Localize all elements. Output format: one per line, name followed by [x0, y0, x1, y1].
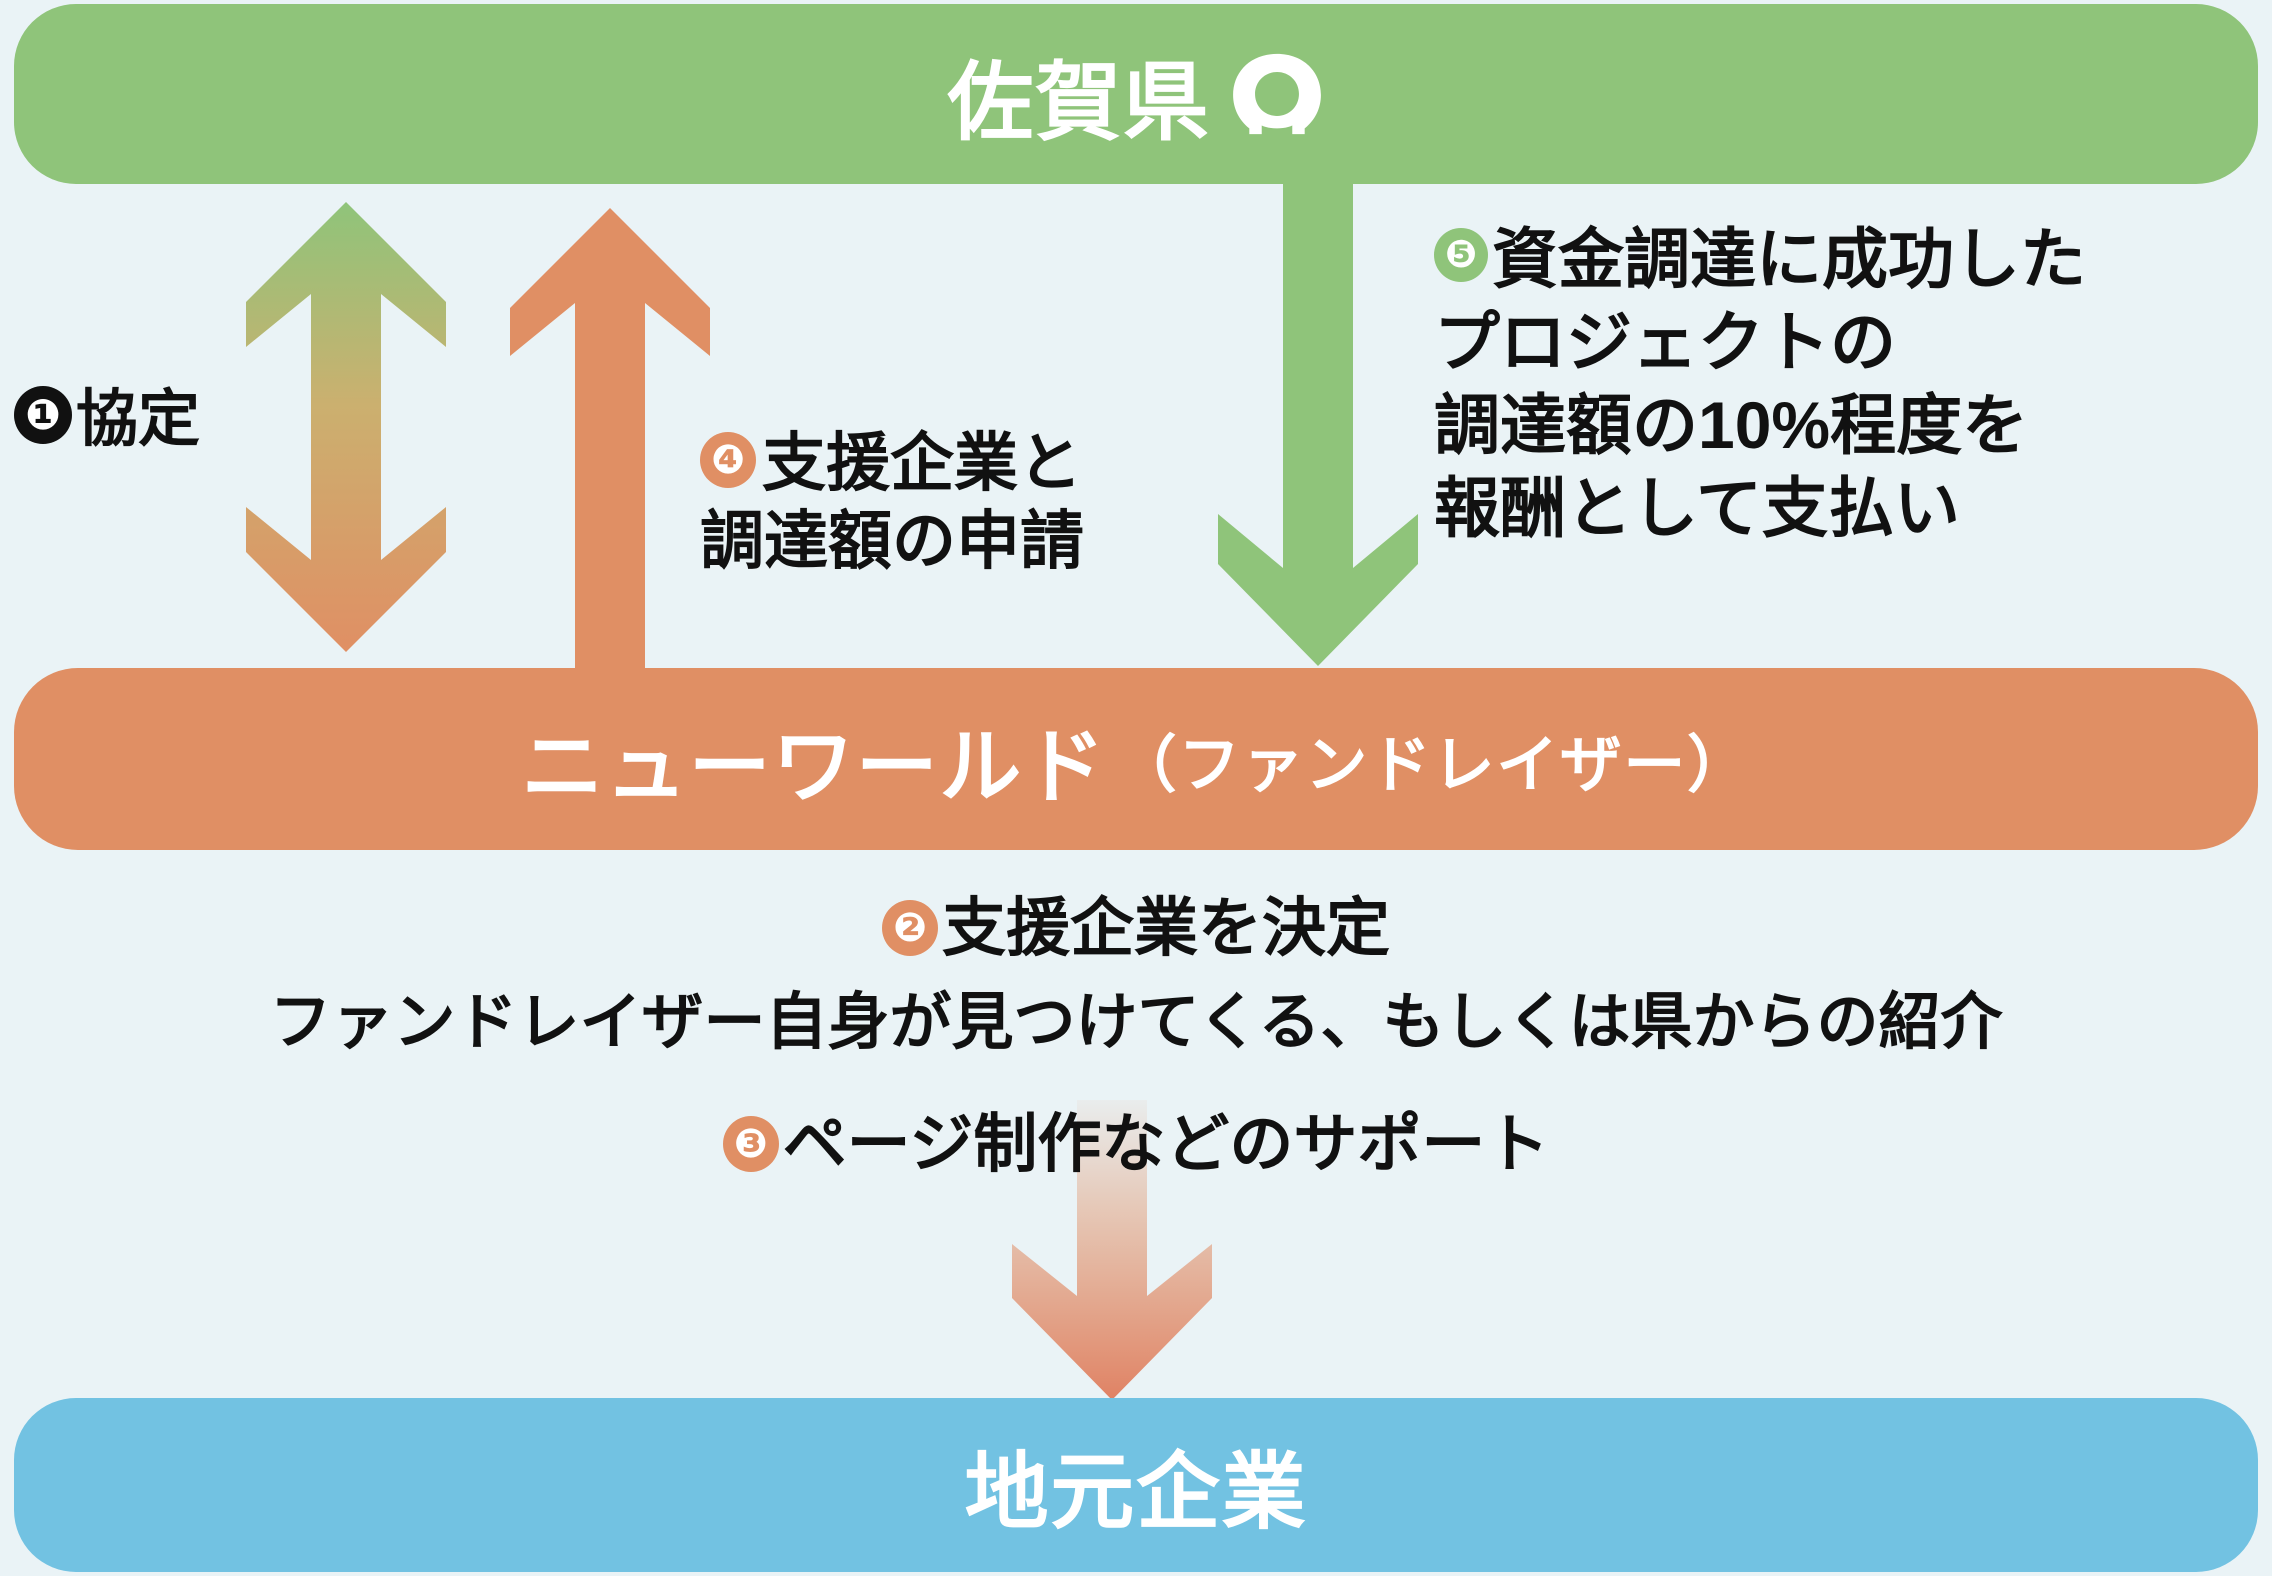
diagram-canvas: 佐賀県 [0, 0, 2272, 1576]
node-saga-prefecture: 佐賀県 [14, 4, 2258, 184]
step-4-text-line-1: 支援企業と [762, 424, 1082, 502]
step-3-number-badge: ❸ [723, 1116, 779, 1172]
reward-down-arrow [1218, 176, 1418, 666]
step-4-application-label: ❹ 支援企業と 調達額の申請 [700, 424, 1084, 580]
step-2-headline: ❷ 支援企業を決定 [882, 889, 1390, 967]
application-up-arrow [510, 208, 710, 668]
step-2-text: 支援企業を決定 [942, 889, 1390, 967]
step-4-text-line-2: 調達額の申請 [700, 502, 1084, 580]
step-5-row-2: プロジェクトの [1434, 301, 2086, 384]
step-2-decide-company-label: ❷ 支援企業を決定 ファンドレイザー自身が見つけてくる、もしくは県からの紹介 [0, 880, 2272, 1061]
node-new-world-label: ニューワールド [521, 700, 1106, 819]
step-2-number-badge: ❷ [882, 900, 938, 956]
step-5-row-1: ❺ 資金調達に成功した [1434, 218, 2086, 301]
step-1-agreement-label: ❶ 協定 [14, 382, 200, 458]
node-new-world-sublabel: （ファンドレイザー） [1115, 714, 1751, 804]
step-5-text-line-2: プロジェクトの [1434, 301, 1896, 384]
step-5-row-3: 調達額の10%程度を [1434, 384, 2086, 467]
node-saga-prefecture-content: 佐賀県 [947, 32, 1324, 157]
step-2-subtext: ファンドレイザー自身が見つけてくる、もしくは県からの紹介 [0, 985, 2272, 1061]
step-4-number-badge: ❹ [700, 432, 756, 488]
step-1-text: 協定 [76, 382, 200, 458]
step-4-row-1: ❹ 支援企業と [700, 424, 1084, 502]
step-5-row-4: 報酬として支払い [1434, 467, 2086, 550]
node-local-company: 地元企業 [14, 1398, 2258, 1572]
step-3-support-label: ❸ ページ制作などのサポート [0, 1096, 2272, 1183]
node-local-company-label: 地元企業 [965, 1425, 1308, 1546]
step-5-text-line-1: 資金調達に成功した [1492, 218, 2086, 301]
step-4-row-2: 調達額の申請 [700, 502, 1084, 580]
step-1-number-badge: ❶ [14, 386, 72, 444]
node-saga-prefecture-label: 佐賀県 [947, 32, 1210, 157]
saga-prefecture-mark-icon [1229, 52, 1325, 136]
step-5-text-line-4: 報酬として支払い [1434, 467, 1960, 550]
node-new-world: ニューワールド （ファンドレイザー） [14, 668, 2258, 850]
step-3-text: ページ制作などのサポート [783, 1105, 1550, 1183]
step-5-number-badge: ❺ [1434, 228, 1488, 282]
step-5-reward-label: ❺ 資金調達に成功した プロジェクトの 調達額の10%程度を 報酬として支払い [1434, 218, 2086, 551]
agreement-bidirectional-arrow [246, 202, 446, 652]
step-1-row: ❶ 協定 [14, 382, 200, 458]
step-5-text-line-3: 調達額の10%程度を [1434, 384, 2028, 467]
step-3-headline: ❸ ページ制作などのサポート [723, 1105, 1550, 1183]
